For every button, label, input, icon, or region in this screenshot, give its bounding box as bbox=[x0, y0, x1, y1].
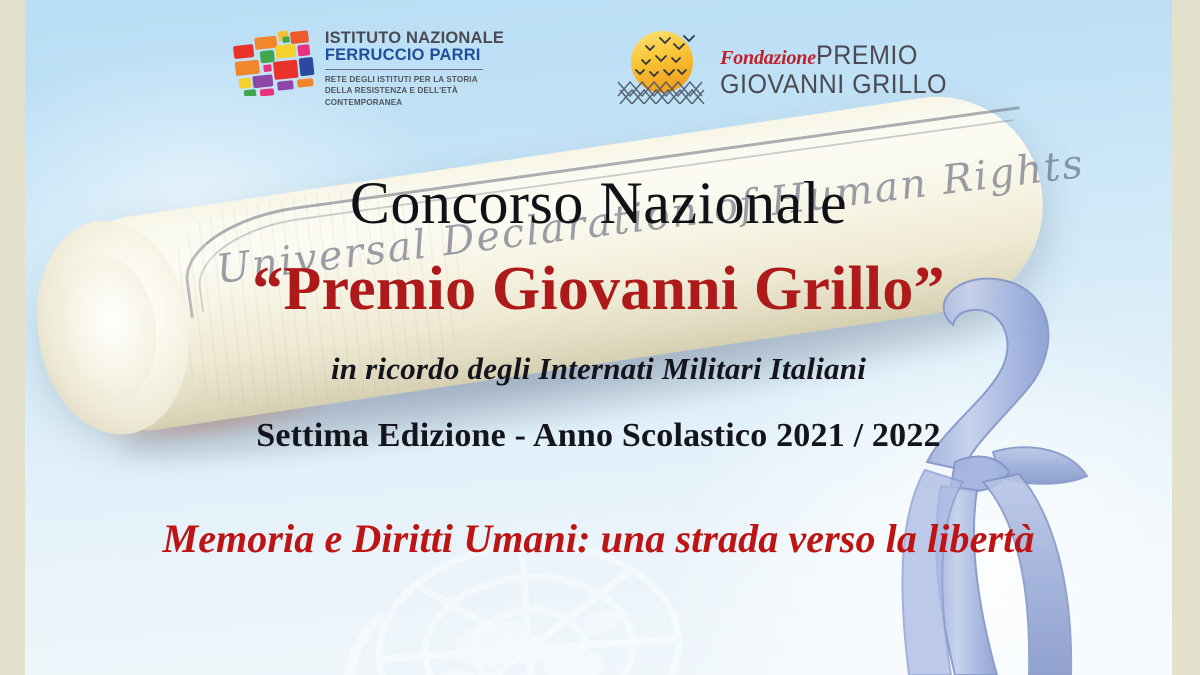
poster-stage: Universal Declaration of Human Rights bbox=[25, 0, 1172, 675]
poster-root: Universal Declaration of Human Rights bbox=[0, 0, 1200, 675]
title-overline: Concorso Nazionale bbox=[25, 173, 1172, 233]
title-tagline: Memoria e Diritti Umani: una strada vers… bbox=[25, 519, 1172, 559]
title-edition: Settima Edizione - Anno Scolastico 2021 … bbox=[25, 419, 1172, 453]
main-titles: Concorso Nazionale “Premio Giovanni Gril… bbox=[25, 0, 1172, 675]
title-main: “Premio Giovanni Grillo” bbox=[25, 258, 1172, 320]
title-subtitle: in ricordo degli Internati Militari Ital… bbox=[25, 353, 1172, 384]
